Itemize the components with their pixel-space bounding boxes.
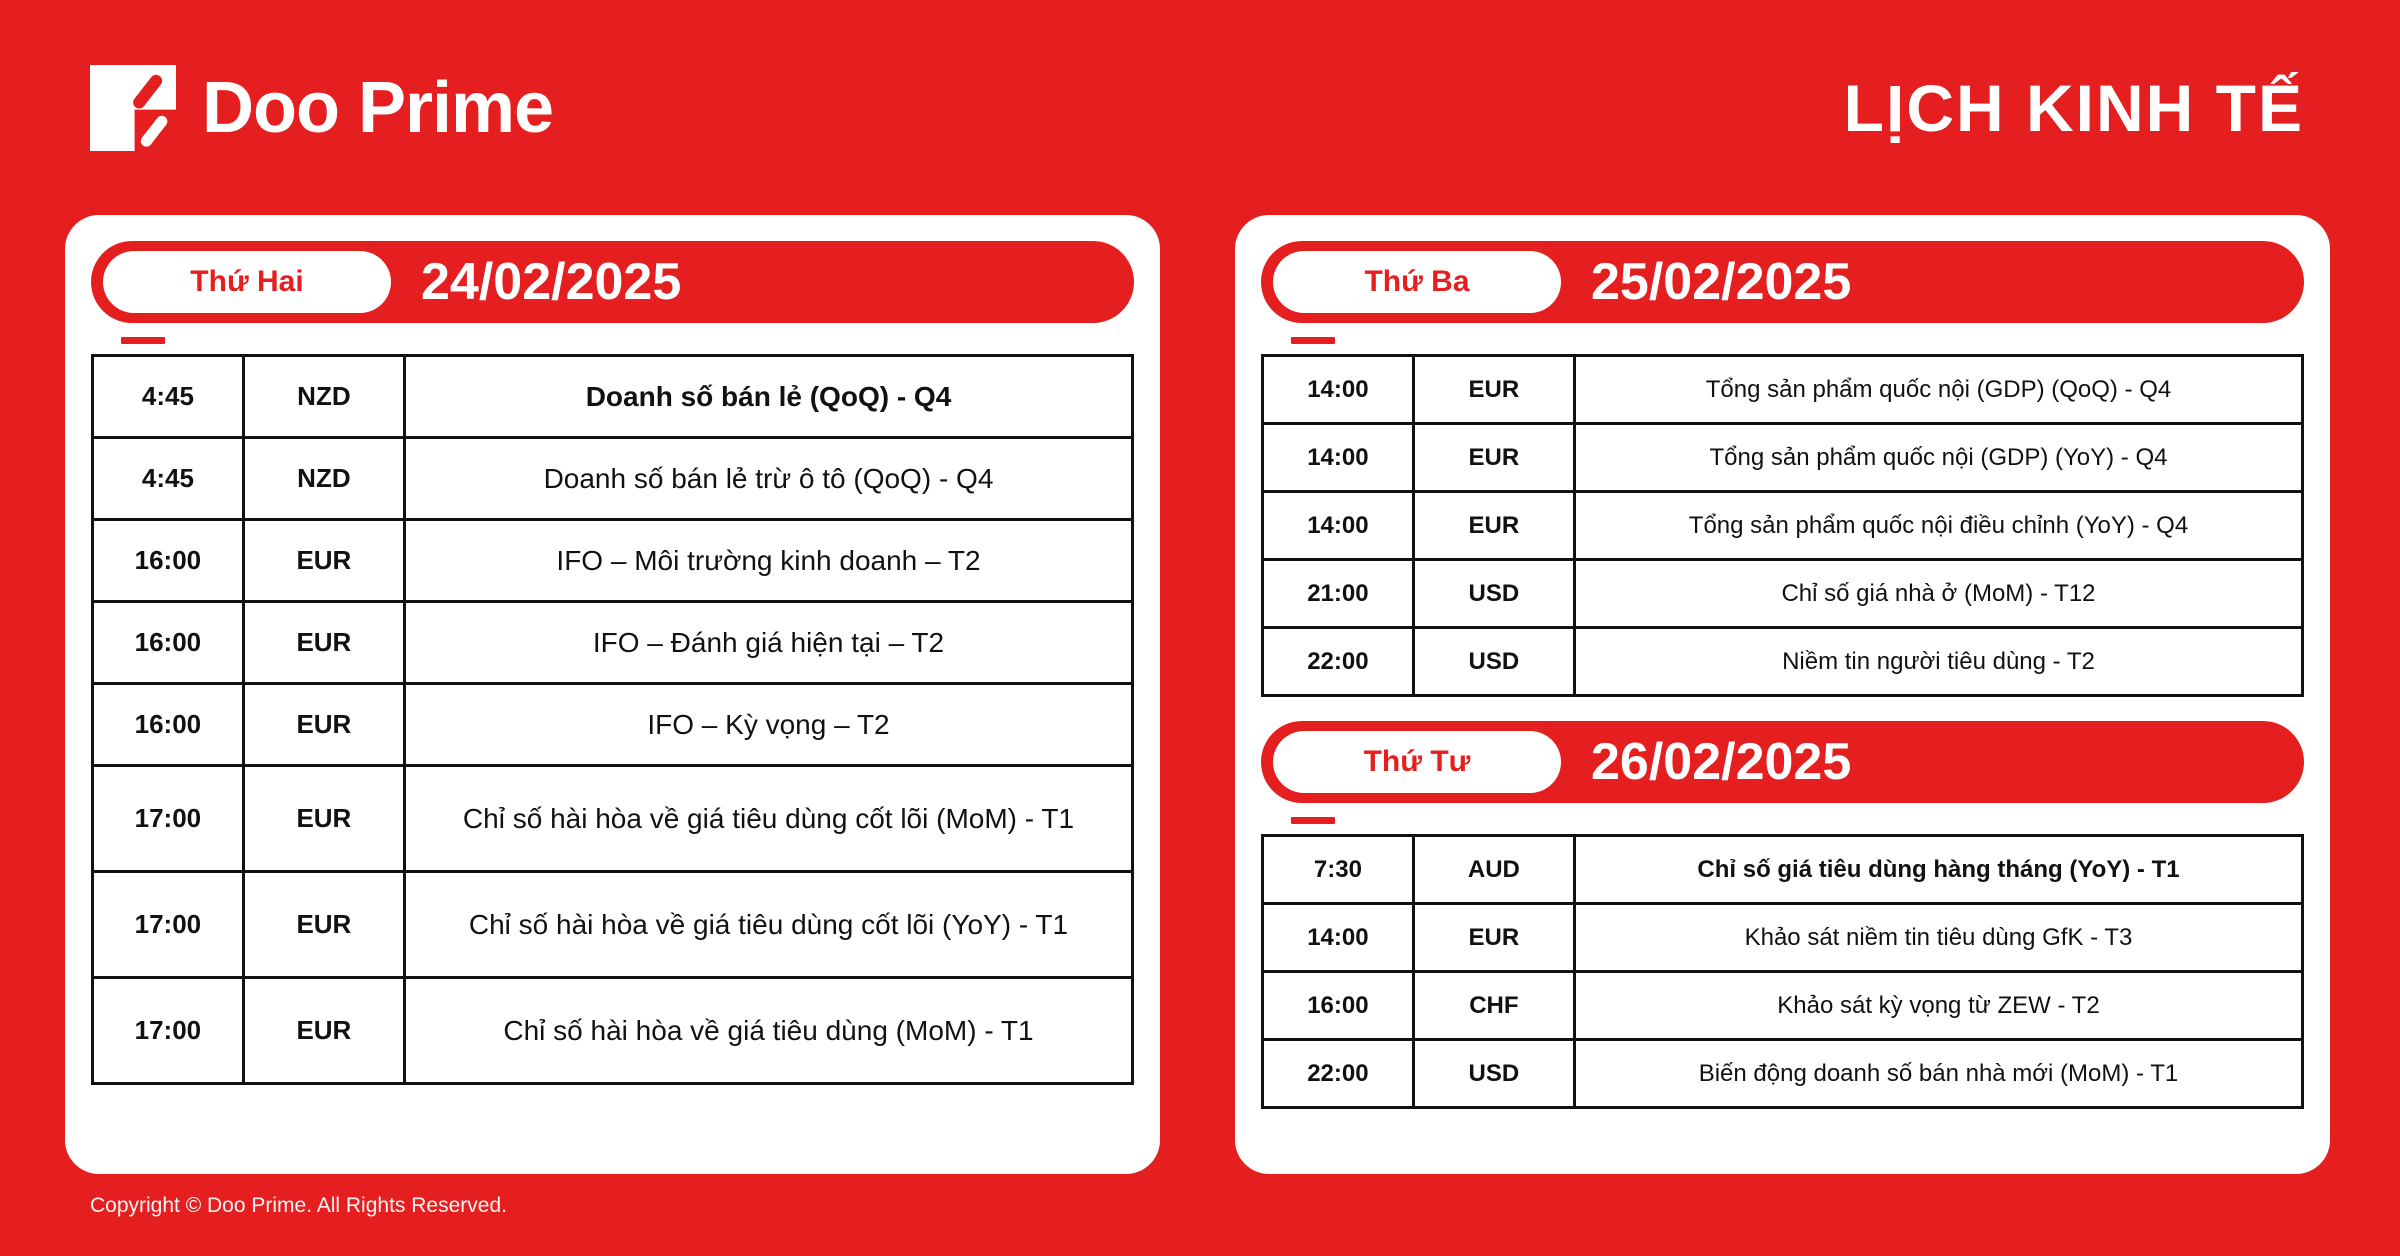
table-row: 14:00 EUR Khảo sát niềm tin tiêu dùng Gf… [1263,904,2303,972]
event-currency: AUD [1413,836,1574,904]
day-underline-accent [1291,337,1335,344]
event-currency: CHF [1413,972,1574,1040]
day-underline-accent [1291,817,1335,824]
table-row: 16:00 EUR IFO – Đánh giá hiện tại – T2 [93,602,1133,684]
event-currency: EUR [243,872,404,978]
day-header: Thứ Ba 25/02/2025 [1261,241,2304,323]
event-time: 4:45 [93,438,244,520]
event-currency: EUR [243,978,404,1084]
event-name: Chỉ số giá tiêu dùng hàng tháng (YoY) - … [1574,836,2302,904]
event-name: Niềm tin người tiêu dùng - T2 [1574,628,2302,696]
event-name: Chỉ số giá nhà ở (MoM) - T12 [1574,560,2302,628]
table-row: 4:45 NZD Doanh số bán lẻ trừ ô tô (QoQ) … [93,438,1133,520]
event-name: IFO – Đánh giá hiện tại – T2 [404,602,1132,684]
event-time: 16:00 [93,684,244,766]
event-time: 14:00 [1263,492,1414,560]
event-name: IFO – Kỳ vọng – T2 [404,684,1132,766]
day-underline-accent [121,337,165,344]
event-time: 17:00 [93,978,244,1084]
event-name: IFO – Môi trường kinh doanh – T2 [404,520,1132,602]
day-date: 24/02/2025 [421,256,681,308]
top-bar: Doo Prime LỊCH KINH TẾ [0,0,2400,215]
table-row: 16:00 EUR IFO – Môi trường kinh doanh – … [93,520,1133,602]
weekday-label: Thứ Tư [1364,745,1471,779]
event-currency: EUR [243,602,404,684]
event-name: Khảo sát niềm tin tiêu dùng GfK - T3 [1574,904,2302,972]
doo-prime-logo-icon [90,65,176,151]
event-time: 14:00 [1263,356,1414,424]
weekday-label: Thứ Hai [190,265,303,299]
event-name: Doanh số bán lẻ trừ ô tô (QoQ) - Q4 [404,438,1132,520]
event-time: 22:00 [1263,628,1414,696]
event-name: Tổng sản phẩm quốc nội (GDP) (YoY) - Q4 [1574,424,2302,492]
table-row: 21:00 USD Chỉ số giá nhà ở (MoM) - T12 [1263,560,2303,628]
event-currency: EUR [243,520,404,602]
event-currency: EUR [243,766,404,872]
event-time: 16:00 [93,602,244,684]
table-row: 14:00 EUR Tổng sản phẩm quốc nội (GDP) (… [1263,356,2303,424]
table-row: 17:00 EUR Chỉ số hài hòa về giá tiêu dùn… [93,978,1133,1084]
event-time: 16:00 [93,520,244,602]
table-row: 4:45 NZD Doanh số bán lẻ (QoQ) - Q4 [93,356,1133,438]
brand-logo[interactable]: Doo Prime [90,65,553,151]
event-currency: USD [1413,628,1574,696]
event-name: Doanh số bán lẻ (QoQ) - Q4 [404,356,1132,438]
table-row: 14:00 EUR Tổng sản phẩm quốc nội điều ch… [1263,492,2303,560]
event-currency: USD [1413,1040,1574,1108]
day-header: Thứ Tư 26/02/2025 [1261,721,2304,803]
events-tbody-wednesday: 7:30 AUD Chỉ số giá tiêu dùng hàng tháng… [1263,836,2303,1108]
event-time: 21:00 [1263,560,1414,628]
events-table-monday: 4:45 NZD Doanh số bán lẻ (QoQ) - Q4 4:45… [91,354,1134,1085]
weekday-label: Thứ Ba [1364,265,1469,299]
event-time: 14:00 [1263,424,1414,492]
event-time: 16:00 [1263,972,1414,1040]
event-currency: EUR [1413,904,1574,972]
table-row: 17:00 EUR Chỉ số hài hòa về giá tiêu dùn… [93,872,1133,978]
event-name: Chỉ số hài hòa về giá tiêu dùng cốt lõi … [404,872,1132,978]
table-row: 14:00 EUR Tổng sản phẩm quốc nội (GDP) (… [1263,424,2303,492]
table-row: 7:30 AUD Chỉ số giá tiêu dùng hàng tháng… [1263,836,2303,904]
event-name: Chỉ số hài hòa về giá tiêu dùng cốt lõi … [404,766,1132,872]
weekday-pill: Thứ Tư [1273,731,1561,793]
day-date: 25/02/2025 [1591,256,1851,308]
event-time: 17:00 [93,766,244,872]
day-date: 26/02/2025 [1591,736,1851,788]
weekday-pill: Thứ Hai [103,251,391,313]
event-currency: EUR [1413,356,1574,424]
events-table-tuesday: 14:00 EUR Tổng sản phẩm quốc nội (GDP) (… [1261,354,2304,697]
day-card-monday: Thứ Hai 24/02/2025 4:45 NZD Doanh số bán… [65,215,1160,1174]
day-card-tuesday-wednesday: Thứ Ba 25/02/2025 14:00 EUR Tổng sản phẩ… [1235,215,2330,1174]
event-time: 4:45 [93,356,244,438]
event-name: Chỉ số hài hòa về giá tiêu dùng (MoM) - … [404,978,1132,1084]
event-currency: NZD [243,356,404,438]
page-title: LỊCH KINH TẾ [1844,75,2304,141]
copyright-text: Copyright © Doo Prime. All Rights Reserv… [90,1194,507,1218]
event-currency: USD [1413,560,1574,628]
event-time: 17:00 [93,872,244,978]
weekday-pill: Thứ Ba [1273,251,1561,313]
day-header: Thứ Hai 24/02/2025 [91,241,1134,323]
events-tbody-tuesday: 14:00 EUR Tổng sản phẩm quốc nội (GDP) (… [1263,356,2303,696]
table-row: 16:00 CHF Khảo sát kỳ vọng từ ZEW - T2 [1263,972,2303,1040]
table-row: 16:00 EUR IFO – Kỳ vọng – T2 [93,684,1133,766]
event-time: 14:00 [1263,904,1414,972]
event-currency: EUR [1413,492,1574,560]
event-name: Tổng sản phẩm quốc nội điều chỉnh (YoY) … [1574,492,2302,560]
event-time: 22:00 [1263,1040,1414,1108]
events-tbody-monday: 4:45 NZD Doanh số bán lẻ (QoQ) - Q4 4:45… [93,356,1133,1084]
event-time: 7:30 [1263,836,1414,904]
event-name: Tổng sản phẩm quốc nội (GDP) (QoQ) - Q4 [1574,356,2302,424]
brand-name: Doo Prime [202,72,553,144]
event-name: Biến động doanh số bán nhà mới (MoM) - T… [1574,1040,2302,1108]
section-spacer [1261,697,2304,721]
events-table-wednesday: 7:30 AUD Chỉ số giá tiêu dùng hàng tháng… [1261,834,2304,1109]
event-name: Khảo sát kỳ vọng từ ZEW - T2 [1574,972,2302,1040]
economic-calendar-page: Doo Prime LỊCH KINH TẾ Thứ Hai 24/02/202… [0,0,2400,1256]
event-currency: EUR [243,684,404,766]
table-row: 22:00 USD Niềm tin người tiêu dùng - T2 [1263,628,2303,696]
table-row: 17:00 EUR Chỉ số hài hòa về giá tiêu dùn… [93,766,1133,872]
event-currency: EUR [1413,424,1574,492]
table-row: 22:00 USD Biến động doanh số bán nhà mới… [1263,1040,2303,1108]
event-currency: NZD [243,438,404,520]
